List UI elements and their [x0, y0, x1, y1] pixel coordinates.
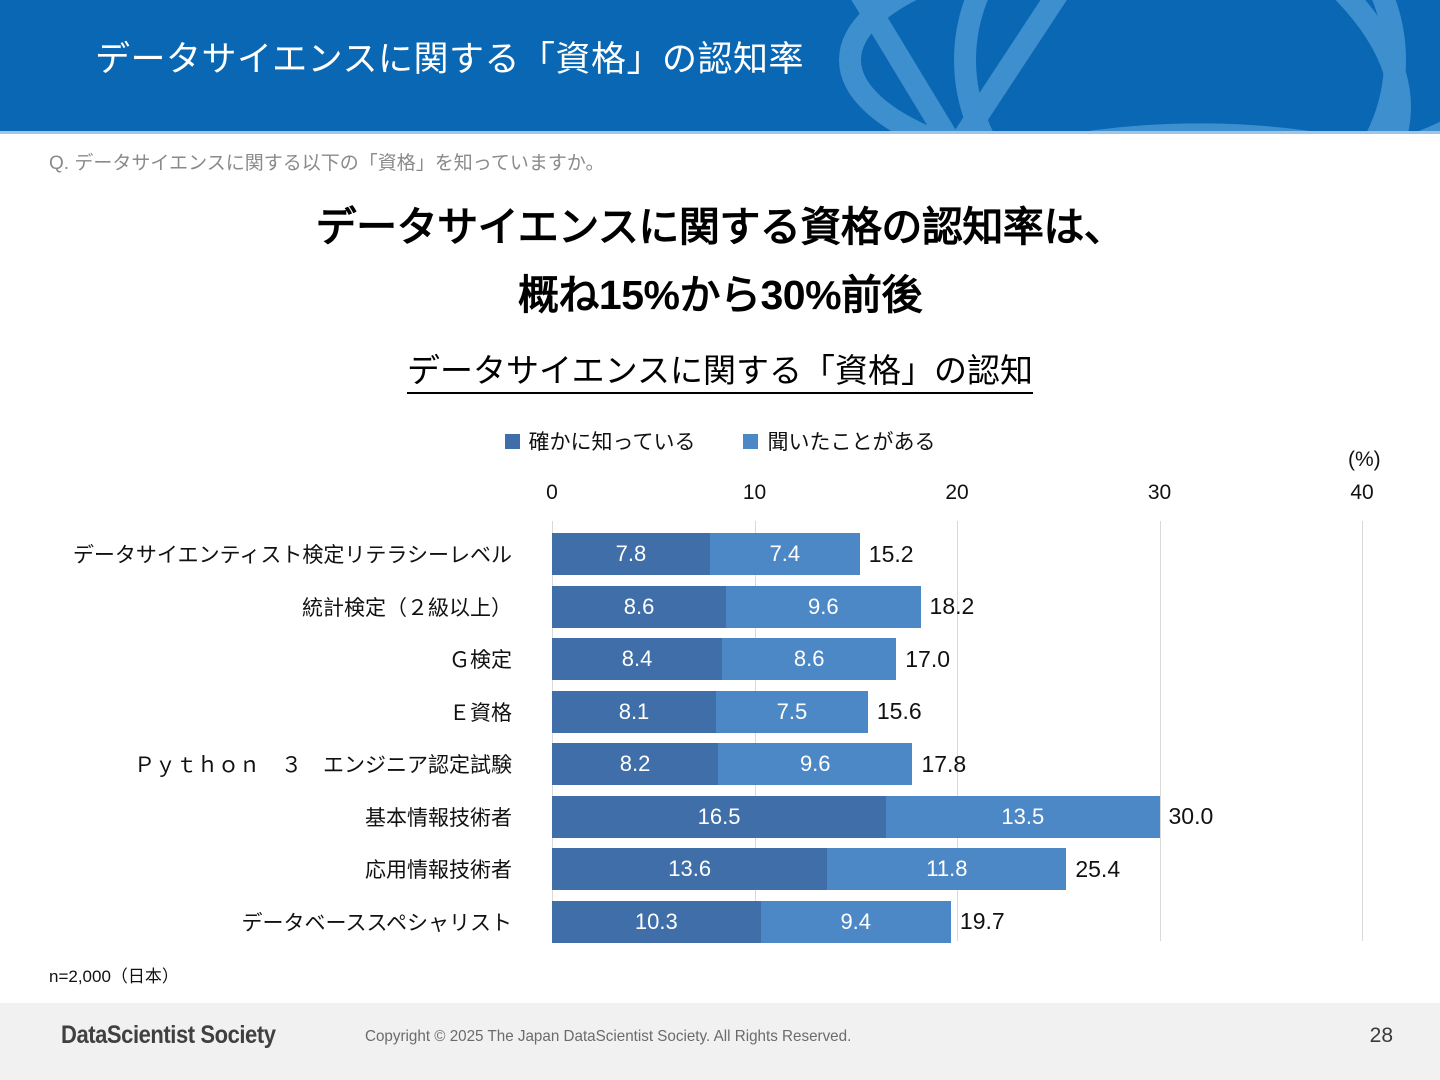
category-label-7: データベーススペシャリスト [0, 901, 530, 943]
bar-row[interactable]: 8.48.617.0 [552, 638, 1362, 680]
bar-segment-1[interactable]: 13.5 [886, 796, 1159, 838]
bar-total-label: 17.8 [912, 743, 966, 785]
bar-segment-1[interactable]: 7.5 [716, 691, 868, 733]
bar-segment-1[interactable]: 7.4 [710, 533, 860, 575]
gridline-40 [1362, 521, 1363, 941]
bar-value-label: 7.8 [616, 541, 647, 567]
x-tick-0: 0 [546, 481, 558, 505]
bar-row[interactable]: 8.69.618.2 [552, 586, 1362, 628]
bar-segment-0[interactable]: 8.1 [552, 691, 716, 733]
bar-segment-1[interactable]: 11.8 [827, 848, 1066, 890]
bar-value-label: 11.8 [926, 856, 967, 882]
bar-row[interactable]: 10.39.419.7 [552, 901, 1362, 943]
legend-item-0[interactable]: 確かに知っている [505, 426, 696, 456]
bar-row[interactable]: 13.611.825.4 [552, 848, 1362, 890]
legend-label: 聞いたことがある [767, 426, 935, 456]
legend-swatch-icon [505, 434, 520, 449]
page-number: 28 [1370, 1024, 1393, 1048]
y-axis-category-labels: データサイエンティスト検定リテラシーレベル統計検定（２級以上）Ｇ検定Ｅ資格Ｐｙｔ… [0, 521, 530, 941]
bar-segment-1[interactable]: 9.4 [761, 901, 951, 943]
bar-row[interactable]: 7.87.415.2 [552, 533, 1362, 575]
footer-copyright: Copyright © 2025 The Japan DataScientist… [365, 1028, 851, 1046]
bar-value-label: 8.6 [624, 594, 655, 620]
chart-legend: 確かに知っている聞いたことがある [0, 426, 1440, 456]
bar-value-label: 8.6 [794, 646, 825, 672]
bar-value-label: 7.4 [770, 541, 801, 567]
category-label-6: 応用情報技術者 [0, 848, 530, 890]
bar-value-label: 10.3 [635, 909, 678, 935]
bar-segment-0[interactable]: 16.5 [552, 796, 886, 838]
bar-segment-0[interactable]: 13.6 [552, 848, 827, 890]
bar-segment-1[interactable]: 9.6 [718, 743, 912, 785]
bar-value-label: 8.4 [622, 646, 653, 672]
category-label-4: Ｐｙｔｈｏｎ ３ エンジニア認定試験 [0, 743, 530, 785]
x-axis-tick-labels: 010203040 [0, 481, 1440, 509]
bar-segment-0[interactable]: 10.3 [552, 901, 761, 943]
category-label-0: データサイエンティスト検定リテラシーレベル [0, 533, 530, 575]
x-tick-20: 20 [945, 481, 968, 505]
plot-area: 7.87.415.28.69.618.28.48.617.08.17.515.6… [552, 521, 1362, 941]
bar-segment-0[interactable]: 8.6 [552, 586, 726, 628]
bar-row[interactable]: 8.29.617.8 [552, 743, 1362, 785]
chart: データサイエンスに関する「資格」の認知 確かに知っている聞いたことがある (%)… [0, 0, 1440, 1080]
legend-item-1[interactable]: 聞いたことがある [743, 426, 935, 456]
bar-row[interactable]: 8.17.515.6 [552, 691, 1362, 733]
x-tick-30: 30 [1148, 481, 1171, 505]
bar-total-label: 17.0 [896, 638, 950, 680]
axis-unit-label: (%) [1348, 448, 1381, 472]
bar-segment-0[interactable]: 7.8 [552, 533, 710, 575]
bar-row[interactable]: 16.513.530.0 [552, 796, 1362, 838]
chart-title-text: データサイエンスに関する「資格」の認知 [407, 352, 1033, 394]
bar-value-label: 16.5 [698, 804, 741, 830]
bar-total-label: 18.2 [921, 586, 975, 628]
bar-total-label: 25.4 [1066, 848, 1120, 890]
category-label-5: 基本情報技術者 [0, 796, 530, 838]
bar-value-label: 9.4 [840, 909, 871, 935]
x-tick-10: 10 [743, 481, 766, 505]
bar-segment-1[interactable]: 8.6 [722, 638, 896, 680]
page-title: データサイエンスに関する「資格」の認知率 [95, 36, 804, 84]
chart-title: データサイエンスに関する「資格」の認知 [0, 344, 1440, 392]
x-tick-40: 40 [1350, 481, 1373, 505]
bar-value-label: 13.5 [1001, 804, 1044, 830]
category-label-1: 統計検定（２級以上） [0, 586, 530, 628]
bar-total-label: 15.2 [860, 533, 914, 575]
bar-total-label: 30.0 [1160, 796, 1214, 838]
bar-value-label: 9.6 [800, 751, 831, 777]
legend-swatch-icon [743, 434, 758, 449]
legend-label: 確かに知っている [529, 426, 696, 456]
category-label-3: Ｅ資格 [0, 691, 530, 733]
bar-value-label: 9.6 [808, 594, 839, 620]
bar-value-label: 13.6 [668, 856, 711, 882]
bar-value-label: 8.2 [620, 751, 651, 777]
bar-segment-0[interactable]: 8.4 [552, 638, 722, 680]
bar-value-label: 8.1 [619, 699, 650, 725]
bar-total-label: 19.7 [951, 901, 1005, 943]
bar-segment-0[interactable]: 8.2 [552, 743, 718, 785]
footer-logo: DataScientist Society [61, 1021, 276, 1050]
category-label-2: Ｇ検定 [0, 638, 530, 680]
bar-value-label: 7.5 [777, 699, 808, 725]
bar-total-label: 15.6 [868, 691, 922, 733]
bar-segment-1[interactable]: 9.6 [726, 586, 920, 628]
sample-size-note: n=2,000（日本） [49, 962, 179, 987]
